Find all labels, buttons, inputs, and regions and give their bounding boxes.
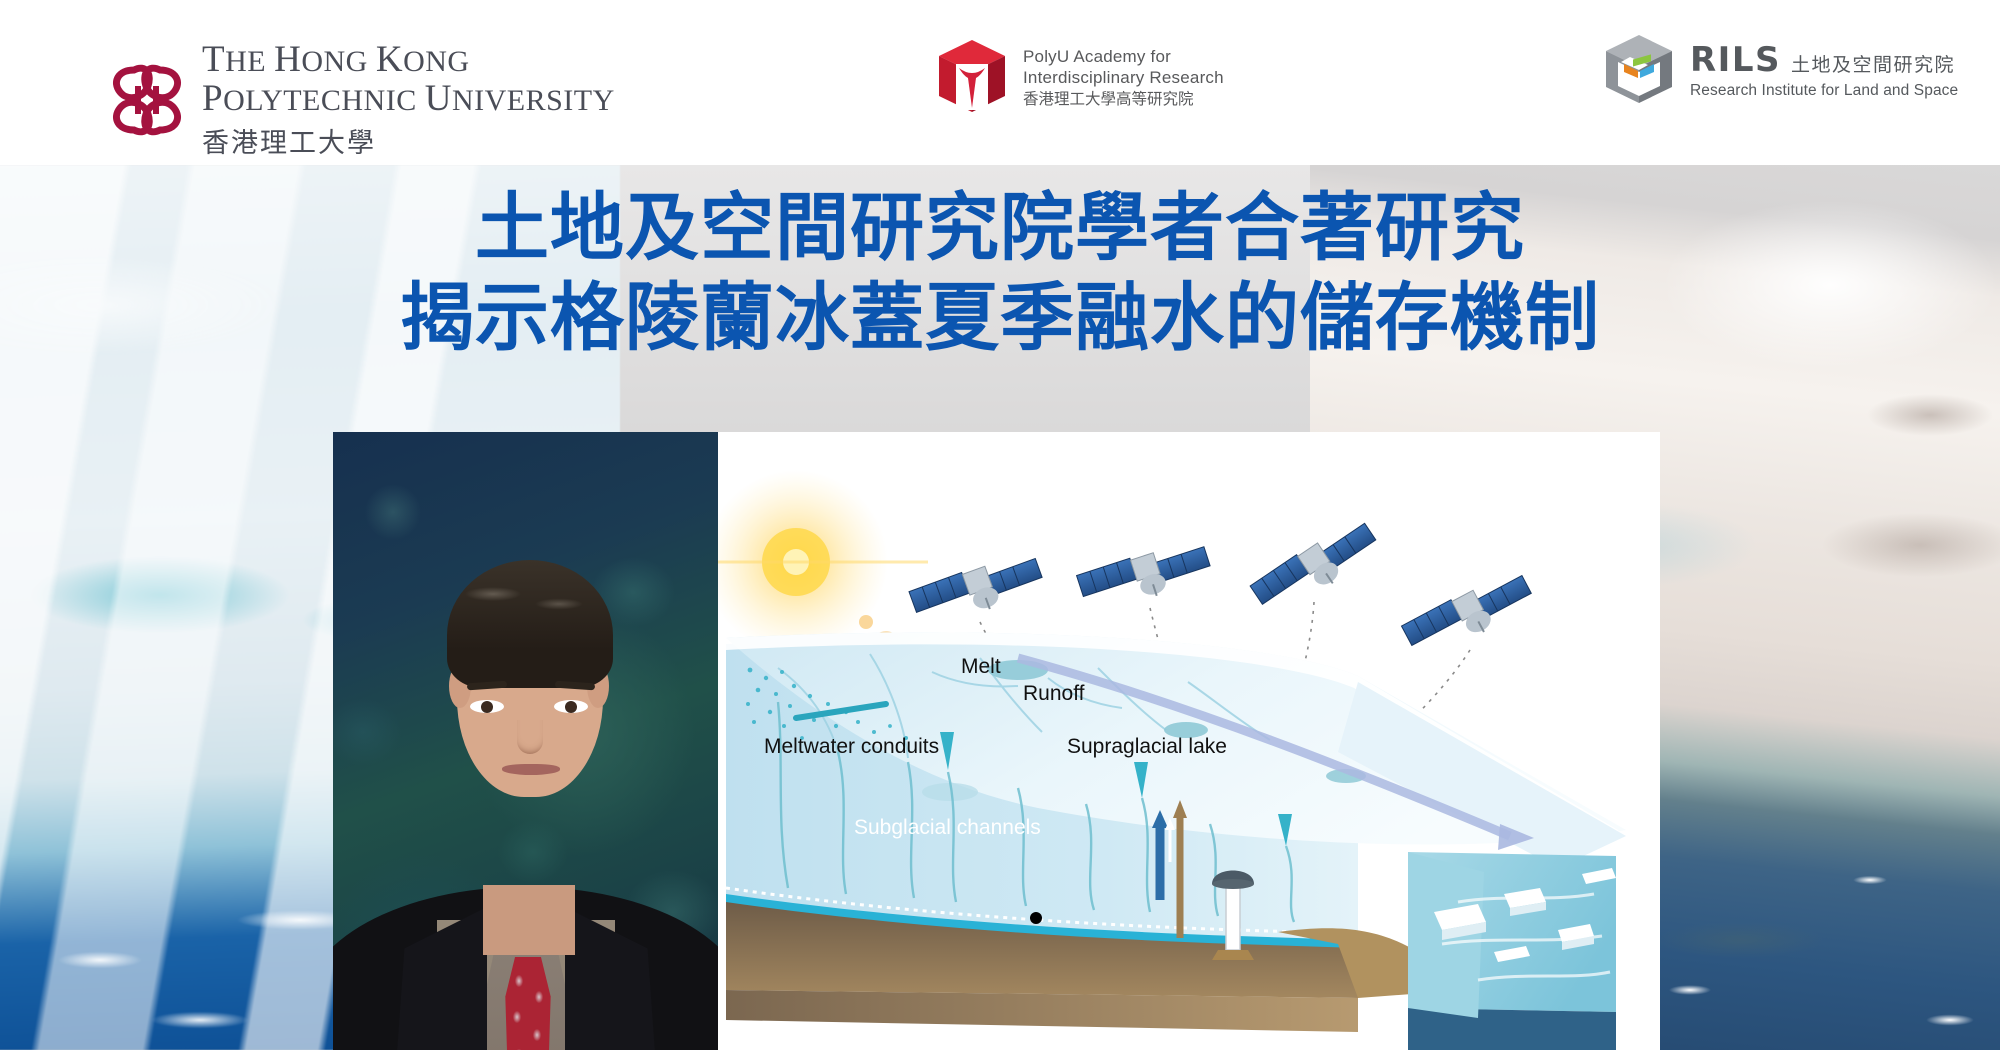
content-panel: Melt Runoff Meltwater conduits Supraglac… <box>333 432 1660 1050</box>
polyu-logo-text: THE HONG KONG POLYTECHNIC UNIVERSITY 香港理… <box>202 40 615 160</box>
pair-chinese: 香港理工大學高等研究院 <box>1023 90 1224 109</box>
satellite-icon <box>909 547 1046 633</box>
header-bar: THE HONG KONG POLYTECHNIC UNIVERSITY 香港理… <box>0 0 2000 165</box>
bed-marker-dot <box>1030 912 1042 924</box>
diagram-label-supraglacial-lake: Supraglacial lake <box>1067 735 1227 759</box>
polyu-line1: THE HONG KONG <box>202 40 615 79</box>
rils-chinese: 土地及空間研究院 <box>1791 56 1955 77</box>
polyu-line2: POLYTECHNIC UNIVERSITY <box>202 79 615 118</box>
pair-logo: PolyU Academy for Interdisciplinary Rese… <box>935 38 1224 118</box>
polyu-logo: THE HONG KONG POLYTECHNIC UNIVERSITY 香港理… <box>108 40 615 160</box>
rils-subtitle: Research Institute for Land and Space <box>1690 82 1958 100</box>
diagram-label-meltwater-conduits: Meltwater conduits <box>764 735 939 759</box>
hero-stage: 土地及空間研究院學者合著研究 揭示格陵蘭冰蓋夏季融水的儲存機制 <box>0 165 2000 1050</box>
title-line-2: 揭示格陵蘭冰蓋夏季融水的儲存機制 <box>0 273 2000 363</box>
portrait-hair <box>447 560 613 688</box>
rils-title-row: RILS 土地及空間研究院 <box>1690 43 1958 77</box>
portrait-neck <box>483 885 575 955</box>
polyu-knot-icon <box>108 56 186 144</box>
pair-line2: Interdisciplinary Research <box>1023 68 1224 89</box>
diagram-label-runoff: Runoff <box>1023 682 1085 706</box>
researcher-portrait <box>333 432 718 1050</box>
portrait-eye-right <box>554 700 588 713</box>
diagram-label-melt: Melt <box>961 655 1001 679</box>
rils-cube-icon <box>1600 32 1678 110</box>
page-title: 土地及空間研究院學者合著研究 揭示格陵蘭冰蓋夏季融水的儲存機制 <box>0 183 2000 364</box>
diagram-label-subglacial-channels: Subglacial channels <box>854 816 1041 840</box>
polyu-chinese: 香港理工大學 <box>202 121 615 160</box>
portrait-nose <box>517 720 543 754</box>
ocean-side <box>1408 1008 1616 1050</box>
portrait-mouth <box>502 764 560 775</box>
pair-cube-icon <box>935 38 1009 118</box>
satellite-icon <box>1077 535 1214 617</box>
logo-row: THE HONG KONG POLYTECHNIC UNIVERSITY 香港理… <box>0 0 2000 165</box>
pair-logo-text: PolyU Academy for Interdisciplinary Rese… <box>1023 47 1224 109</box>
rils-logo-text: RILS 土地及空間研究院 Research Institute for Lan… <box>1690 43 1958 100</box>
portrait-eye-left <box>470 700 504 713</box>
rils-logo: RILS 土地及空間研究院 Research Institute for Lan… <box>1600 32 1958 110</box>
rils-acronym: RILS <box>1690 43 1781 77</box>
pair-line1: PolyU Academy for <box>1023 47 1224 68</box>
title-line-1: 土地及空間研究院學者合著研究 <box>0 183 2000 273</box>
ice-sheet-diagram: Melt Runoff Meltwater conduits Supraglac… <box>718 432 1660 1050</box>
satellite-icon <box>1250 513 1382 622</box>
